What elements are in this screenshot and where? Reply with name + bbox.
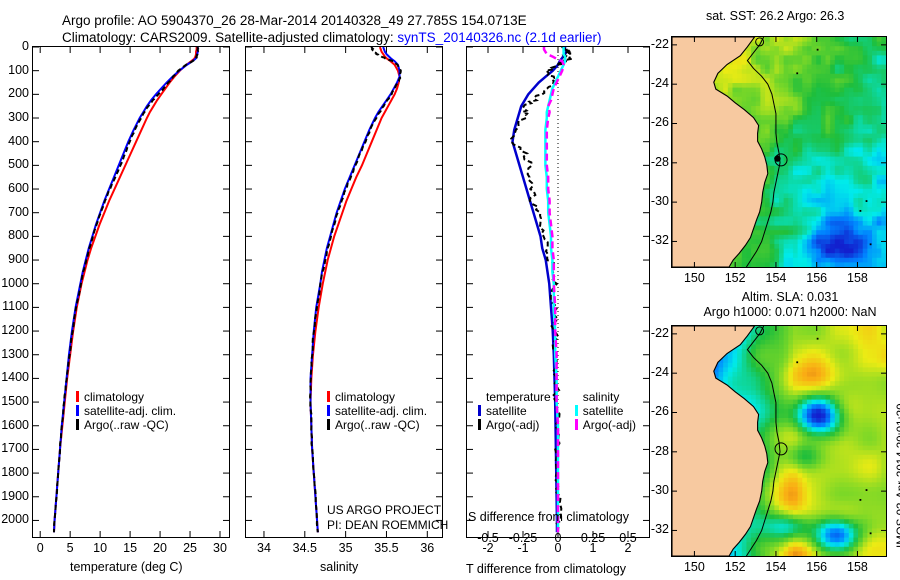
legend-swatch-blue <box>478 405 481 416</box>
salinity-axis-label: salinity <box>320 560 358 574</box>
depth-tick-label: 1800 <box>0 465 29 479</box>
x-tick-label: 35 <box>328 541 364 555</box>
legend-swatch-black <box>327 419 330 430</box>
sst-lat-tick-label: -24 <box>642 76 669 90</box>
sst-lon-tick-label: 150 <box>676 271 712 285</box>
depth-tick-label: 200 <box>0 86 29 100</box>
legend-label: Argo(-adj) <box>583 418 636 432</box>
depth-tick-label: 1100 <box>0 299 29 313</box>
legend-item-argo-raw: Argo(..raw -QC) <box>76 418 176 432</box>
sst-lat-tick-label: -30 <box>642 194 669 208</box>
legend-swatch-black <box>76 419 79 430</box>
depth-tick-label: 800 <box>0 228 29 242</box>
title-line-2-prefix: Climatology: CARS2009. Satellite-adjuste… <box>62 30 397 45</box>
depth-tick-label: 1200 <box>0 323 29 337</box>
sla-map[interactable] <box>671 325 887 557</box>
legend-swatch-black <box>478 419 481 430</box>
x-tick-label: 34.5 <box>287 541 323 555</box>
depth-tick-label: 900 <box>0 252 29 266</box>
sla-lat-tick-label: -32 <box>642 522 669 536</box>
depth-tick-label: 300 <box>0 110 29 124</box>
difference-legend-salinity-column: salinity satellite Argo(-adj) <box>575 390 636 432</box>
temperature-plot[interactable] <box>32 46 230 538</box>
sst-lat-tick-label: -28 <box>642 155 669 169</box>
legend-item-satellite-adj: satellite-adj. clim. <box>76 404 176 418</box>
project-name: US ARGO PROJECT <box>327 503 448 518</box>
legend-label: climatology <box>335 390 395 404</box>
depth-tick-label: 0 <box>0 39 29 53</box>
legend-label: Argo(..raw -QC) <box>335 418 420 432</box>
difference-legend-temperature-column: temperature satellite Argo(-adj) <box>478 390 551 432</box>
depth-tick-label: 100 <box>0 63 29 77</box>
depth-tick-label: 400 <box>0 134 29 148</box>
s-diff-tick-label: -0.25 <box>503 531 543 545</box>
title-line-2: Climatology: CARS2009. Satellite-adjuste… <box>62 29 602 46</box>
salinity-legend: climatology satellite-adj. clim. Argo(..… <box>327 390 427 432</box>
temperature-axis-label: temperature (deg C) <box>70 560 183 574</box>
legend-item-sal-argo: Argo(-adj) <box>575 418 636 432</box>
sst-lon-tick-label: 152 <box>717 271 753 285</box>
legend-swatch-blue <box>327 405 330 416</box>
legend-label: satellite <box>583 404 624 418</box>
legend-header-temperature: temperature <box>478 390 551 404</box>
legend-item-argo-raw: Argo(..raw -QC) <box>327 418 427 432</box>
legend-label: Argo(..raw -QC) <box>84 418 169 432</box>
legend-item-temp-argo: Argo(-adj) <box>478 418 551 432</box>
depth-tick-label: 700 <box>0 205 29 219</box>
argo-steric-heights: Argo h1000: 0.071 h2000: NaN <box>700 305 880 320</box>
depth-tick-label: 1500 <box>0 394 29 408</box>
sst-lat-tick-label: -22 <box>642 37 669 51</box>
project-pi: PI: DEAN ROEMMICH <box>327 518 448 533</box>
depth-tick-label: 500 <box>0 157 29 171</box>
difference-legend: temperature satellite Argo(-adj) salinit… <box>478 390 636 432</box>
sla-lon-tick-label: 154 <box>758 560 794 574</box>
imos-timestamp: IMOS 02-Apr-2014 20:01:20 <box>896 404 900 548</box>
legend-label: satellite <box>486 404 527 418</box>
legend-swatch-red <box>76 391 79 402</box>
depth-tick-label: 1400 <box>0 370 29 384</box>
depth-tick-label: 1600 <box>0 418 29 432</box>
sst-lat-tick-label: -32 <box>642 233 669 247</box>
depth-tick-label: 1900 <box>0 489 29 503</box>
salinity-plot[interactable] <box>245 46 443 538</box>
legend-swatch-magenta <box>575 419 578 430</box>
sla-lon-tick-label: 158 <box>839 560 875 574</box>
sst-map-title: sat. SST: 26.2 Argo: 26.3 <box>706 9 844 23</box>
legend-label: climatology <box>84 390 144 404</box>
sst-lon-tick-label: 156 <box>799 271 835 285</box>
sst-lon-tick-label: 158 <box>839 271 875 285</box>
depth-tick-label: 1000 <box>0 276 29 290</box>
legend-label: Argo(-adj) <box>486 418 539 432</box>
legend-item-climatology: climatology <box>76 390 176 404</box>
legend-item-sal-satellite: satellite <box>575 404 636 418</box>
sst-map[interactable] <box>671 36 887 268</box>
legend-item-climatology: climatology <box>327 390 427 404</box>
depth-tick-label: 1300 <box>0 347 29 361</box>
sla-lon-tick-label: 156 <box>799 560 835 574</box>
legend-swatch-blue <box>76 405 79 416</box>
legend-swatch-red <box>327 391 330 402</box>
s-diff-tick-label: 0 <box>538 531 578 545</box>
sla-lat-tick-label: -22 <box>642 326 669 340</box>
s-diff-tick-label: 0.25 <box>573 531 613 545</box>
legend-label: satellite-adj. clim. <box>335 404 427 418</box>
x-tick-label: 35.5 <box>368 541 404 555</box>
synts-filename: synTS_20140326.nc (2.1d earlier) <box>397 30 601 45</box>
sla-lat-tick-label: -28 <box>642 444 669 458</box>
depth-tick-label: 1700 <box>0 441 29 455</box>
depth-tick-label: 600 <box>0 181 29 195</box>
difference-plot[interactable] <box>466 46 650 538</box>
sla-lat-tick-label: -26 <box>642 404 669 418</box>
legend-label: satellite-adj. clim. <box>84 404 176 418</box>
sla-value: Altim. SLA: 0.031 <box>700 290 880 305</box>
sst-lon-tick-label: 154 <box>758 271 794 285</box>
sla-lat-tick-label: -24 <box>642 365 669 379</box>
legend-swatch-cyan <box>575 405 578 416</box>
salinity-difference-axis-label: S difference from climatology <box>468 510 629 524</box>
sla-lat-tick-label: -30 <box>642 483 669 497</box>
title-line-1: Argo profile: AO 5904370_26 28-Mar-2014 … <box>62 12 602 29</box>
s-diff-tick-label: -0.5 <box>468 531 508 545</box>
legend-header-salinity: salinity <box>575 390 636 404</box>
x-tick-label: 34 <box>246 541 282 555</box>
sla-lon-tick-label: 150 <box>676 560 712 574</box>
legend-item-satellite-adj: satellite-adj. clim. <box>327 404 427 418</box>
figure-title: Argo profile: AO 5904370_26 28-Mar-2014 … <box>62 12 602 46</box>
project-credit: US ARGO PROJECT PI: DEAN ROEMMICH <box>327 503 448 533</box>
legend-item-temp-satellite: satellite <box>478 404 551 418</box>
sla-map-title: Altim. SLA: 0.031 Argo h1000: 0.071 h200… <box>700 290 880 320</box>
sla-lon-tick-label: 152 <box>717 560 753 574</box>
temperature-difference-axis-label: T difference from climatology <box>466 562 626 576</box>
depth-tick-label: 2000 <box>0 512 29 526</box>
x-tick-label: 30 <box>202 541 238 555</box>
x-tick-label: 36 <box>409 541 445 555</box>
temperature-legend: climatology satellite-adj. clim. Argo(..… <box>76 390 176 432</box>
sst-lat-tick-label: -26 <box>642 115 669 129</box>
